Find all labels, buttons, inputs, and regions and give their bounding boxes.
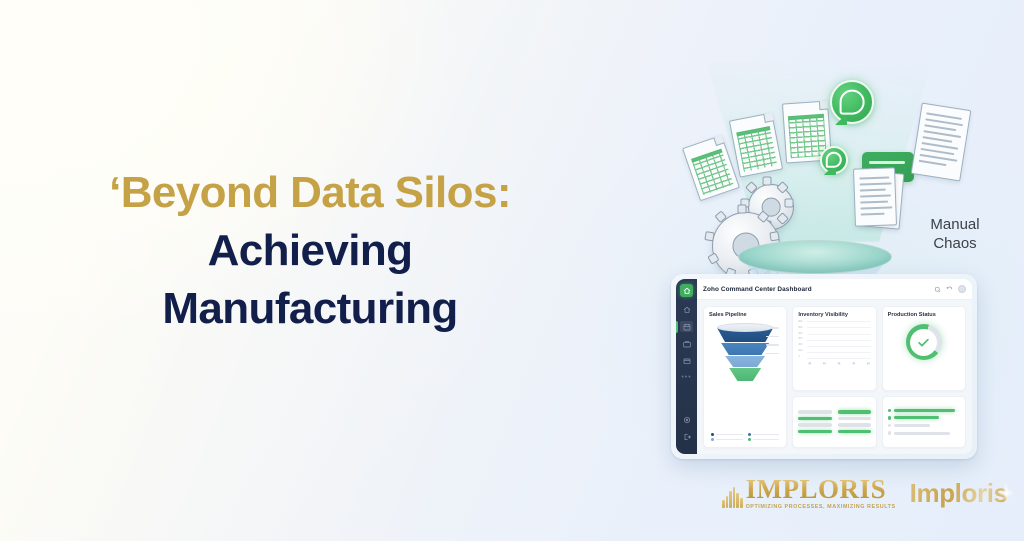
page-fold <box>763 112 774 123</box>
funnel-stage-2 <box>721 343 769 355</box>
gear-tooth <box>707 252 719 264</box>
list-item <box>838 430 871 433</box>
text-document-icon <box>911 103 972 182</box>
doc-line <box>860 201 888 204</box>
x-tick: ▮▮ <box>808 362 811 365</box>
card-title: Production Status <box>888 312 960 318</box>
check-circle-icon <box>916 335 931 350</box>
imploris-primary-logo: IMPLORIS OPTIMIZING PROCESSES, MAXIMIZIN… <box>722 476 896 510</box>
sidebar-item-calendar[interactable] <box>680 321 693 332</box>
card-title: Inventory Visibility <box>798 312 870 318</box>
whatsapp-bubble-small-icon <box>820 146 848 174</box>
list-item <box>838 417 871 420</box>
building-mark-icon <box>722 488 743 510</box>
y-tick: 600 <box>798 321 807 323</box>
gear-tooth <box>714 210 727 223</box>
funnel-chart <box>709 321 781 442</box>
whatsapp-bubble-icon <box>830 80 874 124</box>
card-sales-pipeline[interactable]: Sales Pipeline <box>703 306 787 448</box>
stage-label-line <box>766 336 779 338</box>
funnel-stage-labels <box>766 327 779 354</box>
dashboard-title: Zoho Command Center Dashboard <box>703 286 812 293</box>
card-title: Sales Pipeline <box>709 312 781 318</box>
doc-line <box>861 213 885 215</box>
stage-label-line <box>766 353 779 355</box>
search-icon[interactable] <box>934 286 941 293</box>
dashboard-mockup: ••• Zoho Command Center Dashboard <box>671 274 977 459</box>
list-item <box>798 417 831 420</box>
active-indicator <box>676 321 678 333</box>
gear-tooth <box>769 231 779 241</box>
card-production-status[interactable]: Production Status <box>882 306 966 391</box>
legend-item <box>711 433 743 436</box>
bar-series <box>808 323 869 358</box>
page-fold <box>713 135 724 146</box>
bar-chart: 600 500 400 300 200 100 0 ▮▮ <box>798 321 870 365</box>
logo-wordmark: IMPLORIS <box>746 476 896 503</box>
funnel-rim <box>738 240 892 274</box>
chat-line <box>869 161 905 164</box>
x-tick: ▮▮ <box>852 362 855 365</box>
stage-label-line <box>766 344 779 346</box>
y-axis-ticks: 600 500 400 300 200 100 0 <box>798 321 807 358</box>
list-item <box>888 416 960 419</box>
refresh-icon[interactable] <box>946 286 953 293</box>
y-tick: 300 <box>798 338 807 340</box>
dashboard-sidebar[interactable]: ••• <box>676 279 697 454</box>
legend-item <box>748 438 780 441</box>
funnel-top-ellipse <box>717 323 773 332</box>
funnel-stage-4 <box>729 368 761 381</box>
doc-line <box>924 124 956 131</box>
text-document-icon <box>853 167 897 226</box>
list-item <box>888 409 960 412</box>
list-item <box>838 410 871 413</box>
sidebar-item-folder[interactable] <box>680 355 693 366</box>
sheet-grid <box>788 115 827 158</box>
legend-item <box>748 433 780 436</box>
legend-item <box>711 438 743 441</box>
y-tick: 0 <box>798 356 807 358</box>
x-tick: ▮▮ <box>867 362 870 365</box>
more-dots-icon[interactable]: ••• <box>681 374 691 381</box>
x-axis-labels: ▮▮ ▮▮ ▮▮ ▮▮ ▮▮ <box>808 362 869 365</box>
doc-line <box>860 194 891 197</box>
manual-chaos-label: Manual Chaos <box>900 216 1010 254</box>
imploris-secondary-logo: Imploris <box>910 478 1008 509</box>
avatar[interactable] <box>958 285 966 293</box>
gear-tooth <box>776 212 789 225</box>
logo-tagline: OPTIMIZING PROCESSES, MAXIMIZING RESULTS <box>746 504 896 510</box>
sidebar-item-briefcase[interactable] <box>680 338 693 349</box>
sheet-grid <box>736 127 777 172</box>
funnel-legend <box>709 433 781 442</box>
list-item <box>838 423 871 426</box>
y-tick: 100 <box>798 350 807 352</box>
sidebar-item-house[interactable] <box>680 304 693 315</box>
gear-tooth <box>784 198 793 207</box>
manual-chaos-line-1: Manual <box>930 216 979 233</box>
gear-tooth <box>762 176 771 185</box>
progress-ring <box>906 324 942 360</box>
y-tick: 400 <box>798 333 807 335</box>
branding-logos: IMPLORIS OPTIMIZING PROCESSES, MAXIMIZIN… <box>722 476 1008 510</box>
doc-line <box>860 206 892 209</box>
headline-line-2: Achieving <box>0 226 620 276</box>
doc-line <box>922 136 952 142</box>
card-task-list[interactable] <box>882 396 966 448</box>
y-tick: 500 <box>798 327 807 329</box>
list-item <box>888 424 960 427</box>
donut-chart <box>888 321 960 363</box>
sparkle-icon <box>995 478 1017 508</box>
x-tick: ▮▮ <box>823 362 826 365</box>
manual-chaos-line-2: Chaos <box>933 235 976 252</box>
list-item <box>888 431 960 434</box>
card-inventory-visibility[interactable]: Inventory Visibility 600 500 400 300 200… <box>792 306 876 391</box>
manual-chaos-illustration: Manual Chaos <box>672 44 1024 294</box>
funnel-stage-3 <box>725 356 765 367</box>
list-item <box>798 423 831 426</box>
y-tick: 200 <box>798 344 807 346</box>
sidebar-item-logout[interactable] <box>680 431 693 442</box>
doc-line <box>919 160 947 166</box>
headline-line-1: ‘Beyond Data Silos: <box>0 168 620 218</box>
list-item <box>798 410 831 413</box>
doc-line <box>859 176 889 179</box>
sidebar-item-settings[interactable] <box>680 414 693 425</box>
doc-line <box>860 182 892 185</box>
logo-alt-wordmark: Imploris <box>910 478 1008 508</box>
page-title: ‘Beyond Data Silos: Achieving Manufactur… <box>0 168 620 334</box>
card-summary-rows[interactable] <box>792 396 876 448</box>
dashboard-header: Zoho Command Center Dashboard <box>697 279 972 300</box>
page-fold <box>819 100 829 110</box>
gear-tooth <box>704 231 714 241</box>
doc-line <box>860 189 886 192</box>
gear-tooth <box>737 204 746 213</box>
home-logo-icon[interactable] <box>680 284 693 297</box>
list-item <box>798 430 831 433</box>
x-tick: ▮▮ <box>838 362 841 365</box>
headline-line-3: Manufacturing <box>0 284 620 334</box>
